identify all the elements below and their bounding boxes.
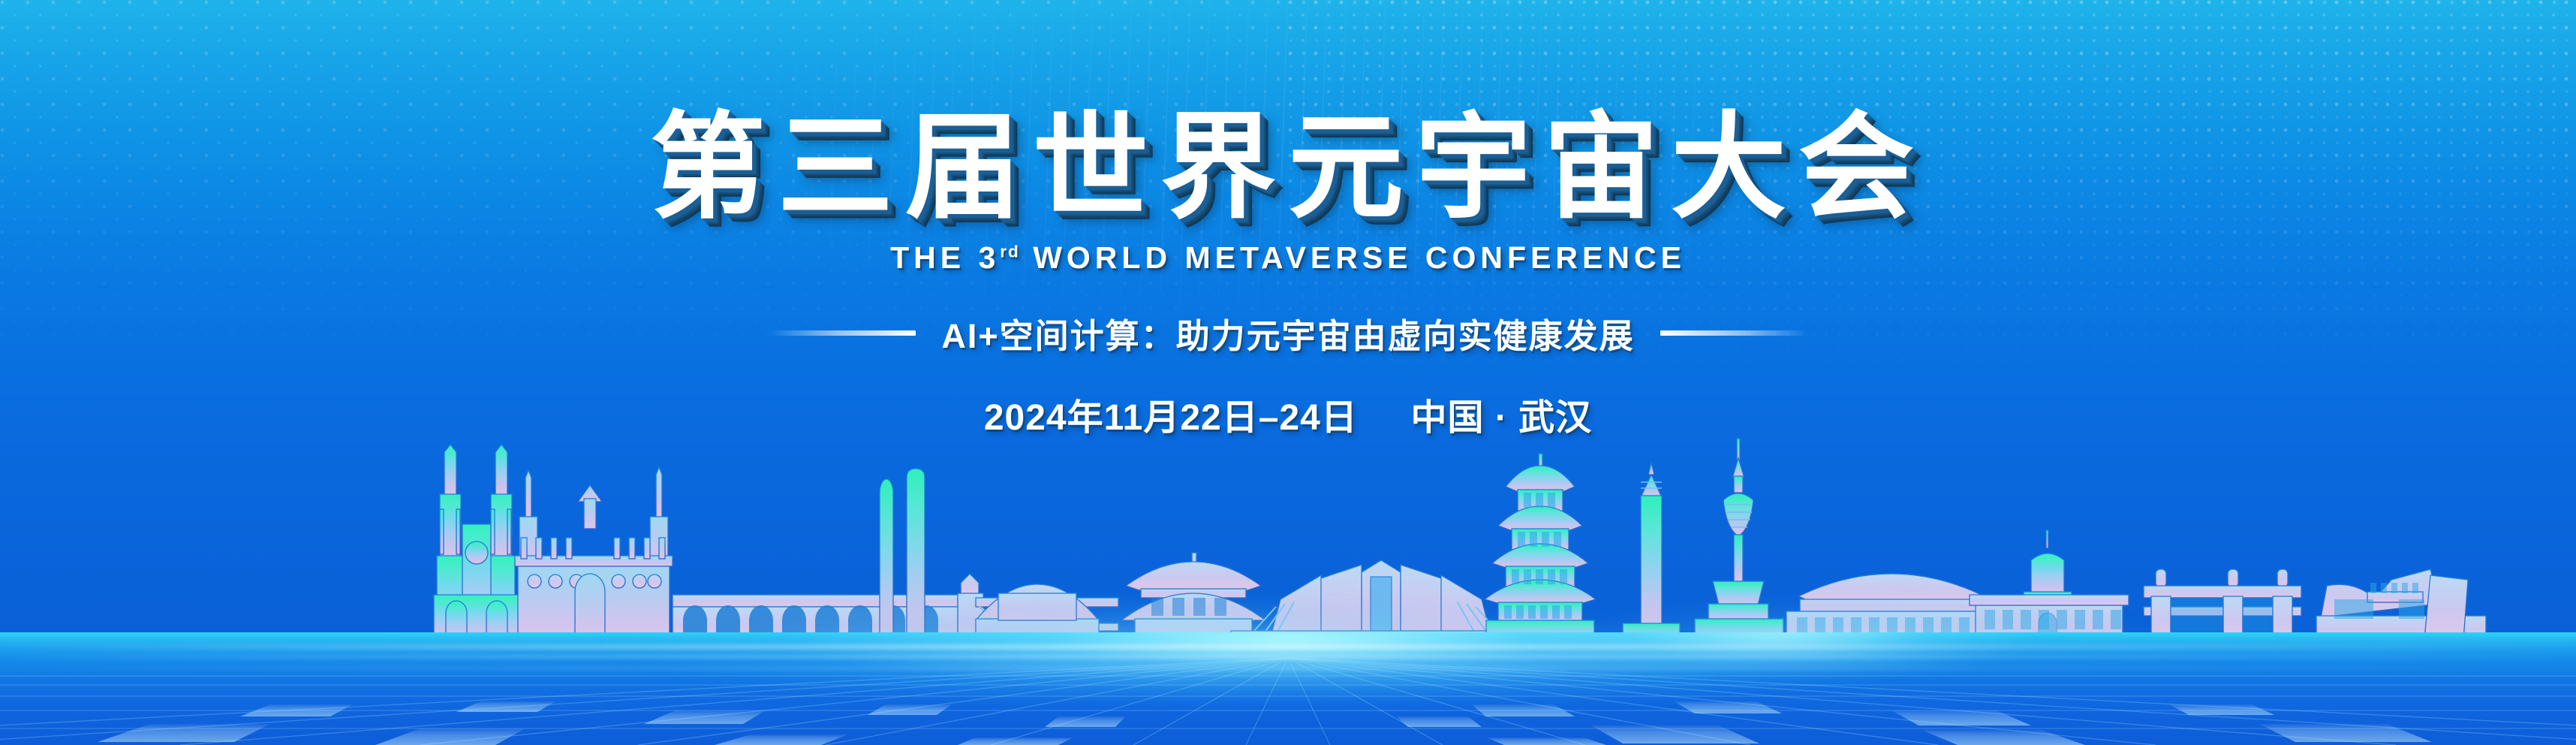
banner-text-block: 第三届世界元宇宙大会 THE 3rd WORLD METAVERSE CONFE… bbox=[0, 0, 2576, 440]
floor-tile-grid bbox=[0, 632, 2576, 745]
arched-viaduct bbox=[673, 574, 1118, 640]
yangtze-bridge-towers bbox=[2144, 569, 2301, 640]
chinese-pavilion bbox=[1121, 553, 1265, 640]
twin-green-towers bbox=[880, 469, 925, 640]
tagline-text: AI+空间计算：助力元宇宙由虚向实健康发展 bbox=[941, 309, 1634, 357]
event-location: 中国 · 武汉 bbox=[1411, 398, 1593, 438]
gothic-cathedral bbox=[434, 445, 519, 640]
monument-obelisk bbox=[1623, 463, 1680, 640]
page-title: 第三届世界元宇宙大会 bbox=[0, 0, 2576, 230]
subtitle-ordinal: rd bbox=[1000, 243, 1020, 261]
perspective-grid-floor bbox=[0, 632, 2576, 745]
qintai-grand-theatre bbox=[2316, 569, 2486, 640]
subtitle-suffix: WORLD METAVERSE CONFERENCE bbox=[1020, 240, 1686, 275]
decorative-rule-right bbox=[1660, 330, 1807, 336]
date-location-row: 2024年11月22日–24日 中国 · 武汉 bbox=[0, 357, 2576, 440]
gate-pavilion bbox=[976, 584, 1099, 640]
subtitle-english: THE 3rd WORLD METAVERSE CONFERENCE bbox=[0, 230, 2576, 276]
wuhan-skyline-silhouette bbox=[0, 406, 2576, 646]
ornate-temple bbox=[515, 467, 673, 640]
event-date: 2024年11月22日–24日 bbox=[984, 398, 1358, 438]
decorative-rule-left bbox=[769, 330, 916, 336]
yellow-crane-tower bbox=[1485, 454, 1596, 640]
hubei-museum-fan bbox=[1231, 560, 1546, 640]
colonnade-hall bbox=[1786, 574, 1997, 640]
wuhan-tv-tower bbox=[1695, 439, 1783, 640]
subtitle-prefix: THE 3 bbox=[890, 240, 1000, 275]
classical-civic-building bbox=[2024, 530, 2072, 604]
conference-banner: 第三届世界元宇宙大会 THE 3rd WORLD METAVERSE CONFE… bbox=[0, 0, 2576, 745]
tagline-row: AI+空间计算：助力元宇宙由虚向实健康发展 bbox=[0, 276, 2576, 357]
